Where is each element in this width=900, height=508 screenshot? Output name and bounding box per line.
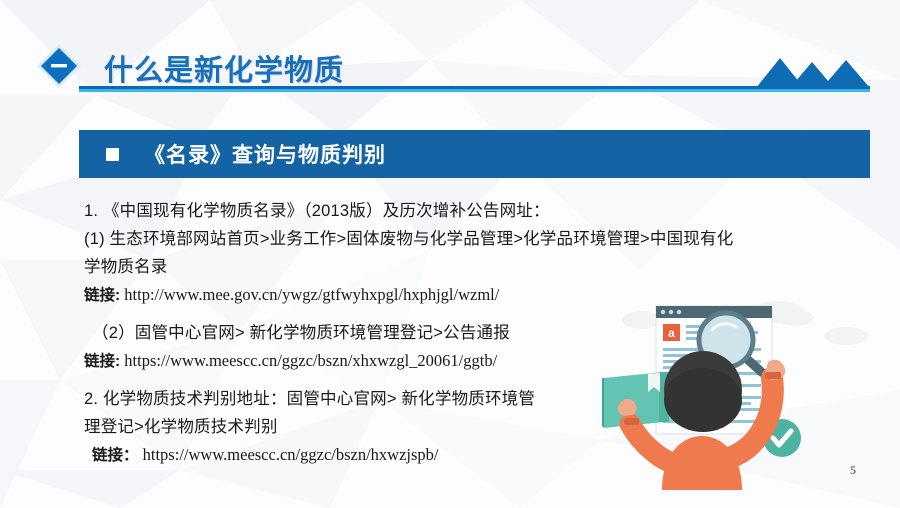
link-url-3[interactable]: https://www.meescc.cn/ggzc/bszn/hxwzjspb…	[143, 445, 439, 464]
section-header-title: 《名录》查询与物质判别	[144, 139, 386, 169]
link-url-2[interactable]: https://www.meescc.cn/ggzc/bszn/xhxwzgl_…	[124, 351, 497, 370]
body-line-item-1-sub-1: (1) 生态环境部网站首页>业务工作>固体废物与化学品管理>化学品环境管理>中国…	[84, 225, 644, 253]
section-header-bar: 《名录》查询与物质判别	[79, 130, 870, 178]
body-line-item-2-wrap: 理登记>化学物质技术判别	[84, 413, 644, 441]
slide-canvas: 什么是新化学物质 《名录》查询与物质判别 1. 《中国现有化学物质名录》（201…	[0, 0, 900, 508]
content-body: 1. 《中国现有化学物质名录》（2013版）及历次增补公告网址： (1) 生态环…	[84, 197, 644, 470]
body-line-item-1-sub-2: （2）固管中心官网> 新化学物质环境管理登记>公告通报	[84, 319, 644, 347]
page-number: 5	[850, 463, 856, 478]
link-label-2: 链接:	[84, 353, 120, 370]
person-searching-document-illustration: a	[600, 290, 900, 490]
body-line-item-2: 2. 化学物质技术判别地址：固管中心官网> 新化学物质环境管	[84, 385, 644, 413]
link-url-1[interactable]: http://www.mee.gov.cn/ywgz/gtfwyhxpgl/hx…	[124, 285, 499, 304]
body-line-item-1-sub-1-wrap: 学物质名录	[84, 253, 644, 281]
link-row-3: 链接： https://www.meescc.cn/ggzc/bszn/hxwz…	[84, 441, 644, 470]
header-rule-accent	[79, 89, 870, 92]
link-row-1: 链接: http://www.mee.gov.cn/ywgz/gtfwyhxpg…	[84, 281, 644, 310]
section-number-badge-icon	[36, 43, 82, 89]
logo-letter: a	[668, 326, 675, 340]
mountain-decoration-icon	[750, 52, 875, 88]
link-label-3: 链接：	[92, 447, 139, 464]
link-label-1: 链接:	[84, 287, 120, 304]
page-title: 什么是新化学物质	[104, 47, 344, 89]
body-line-item-1: 1. 《中国现有化学物质名录》（2013版）及历次增补公告网址：	[84, 197, 644, 225]
square-bullet-icon	[106, 148, 119, 161]
link-row-2: 链接: https://www.meescc.cn/ggzc/bszn/xhxw…	[84, 347, 644, 376]
